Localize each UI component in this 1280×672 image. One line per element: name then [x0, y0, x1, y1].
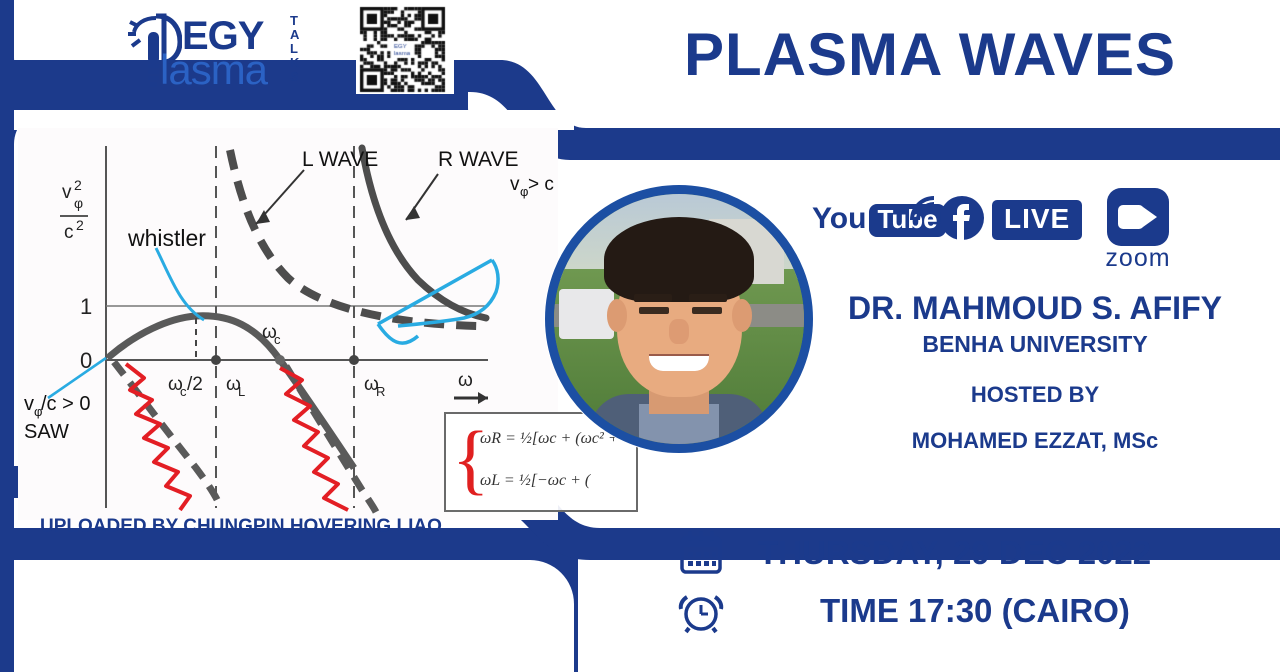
youtube-wifi-icon [908, 194, 942, 224]
photo-eye-left [639, 307, 669, 315]
speaker-university: BENHA UNIVERSITY [800, 331, 1270, 358]
photo-nose [669, 319, 689, 344]
zoom-camera-lens [1143, 207, 1157, 227]
photo-ear-right [732, 299, 752, 332]
axis-dot-omega-R [349, 355, 359, 365]
brand-logo[interactable]: EGY lasma TALKS [120, 6, 330, 92]
photo-brow-left [634, 294, 672, 302]
photo-car [559, 289, 614, 339]
hosted-by-label: HOSTED BY [800, 382, 1270, 408]
calendar-icon [678, 530, 724, 576]
label-vphi-c-gt-0: v [24, 393, 34, 415]
y-tick-0: 0 [80, 348, 92, 373]
axis-dot-omega-L [211, 355, 221, 365]
photo-eye-right [692, 307, 722, 315]
label-omega-axis: ω [458, 370, 473, 391]
label-omega-R-sub: R [376, 384, 385, 399]
speaker-name: DR. MAHMOUD S. AFIFY [800, 290, 1270, 327]
y-axis-label-sup: 2 [74, 177, 82, 193]
live-badge: LIVE [992, 200, 1082, 240]
broadcast-platforms: YouTube LIVE zoom [812, 186, 1172, 272]
photo-brow-right [689, 294, 727, 302]
label-saw: SAW [24, 421, 69, 443]
event-date-text: THURSDAY, 29 DEC 2022 [758, 534, 1151, 572]
alarm-clock-icon [678, 588, 724, 634]
host-name: MOHAMED EZZAT, MSc [800, 428, 1270, 454]
event-date-row: THURSDAY, 29 DEC 2022 [678, 530, 1270, 576]
event-schedule: THURSDAY, 29 DEC 2022 TIME 17:30 (CAIRO) [670, 530, 1270, 634]
zoom-camera-body [1118, 205, 1144, 229]
chart-caption: UPLOADED BY CHUNGPIN HOVERING LIAO [40, 516, 442, 538]
speaker-avatar [545, 185, 813, 453]
speaker-details: DR. MAHMOUD S. AFIFY BENHA UNIVERSITY HO… [800, 290, 1270, 454]
label-l-wave: L WAVE [302, 148, 378, 171]
label-omega-c-sub: c [274, 332, 281, 347]
formula-line-2: ωL = ½[−ωc + ( [480, 472, 590, 490]
qr-code[interactable] [356, 6, 454, 94]
page-title: PLASMA WAVES [600, 20, 1260, 89]
logo-plasma-text: lasma [160, 46, 267, 94]
zoom-icon[interactable]: zoom [1100, 188, 1176, 273]
axis-dot-omega-c [275, 355, 285, 365]
logo-talks-text: TALKS [290, 14, 300, 84]
facebook-icon[interactable] [938, 194, 986, 247]
qr-code-canvas [356, 6, 454, 94]
y-axis-label-num: v [62, 182, 72, 203]
photo-mouth [649, 354, 709, 371]
youtube-you-text: You [812, 202, 866, 235]
label-r-wave: R WAVE [438, 148, 519, 171]
photo-hair [604, 217, 754, 302]
label-gt-c: > c [528, 174, 554, 195]
y-axis-label-sub: φ [74, 195, 83, 211]
event-time-row: TIME 17:30 (CAIRO) [678, 588, 1270, 634]
zoom-label: zoom [1100, 244, 1176, 273]
bottom-left-panel [14, 560, 574, 672]
label-vphi-gt-c: v [510, 174, 520, 195]
y-tick-1: 1 [80, 294, 92, 319]
webinar-poster: EGY lasma TALKS PLASMA WAVES [0, 0, 1280, 672]
y-axis-label-den: c [64, 222, 74, 243]
facebook-glyph [938, 194, 986, 242]
label-whistler: whistler [127, 225, 206, 251]
photo-ear-left [607, 299, 627, 332]
label-omega-c-half-sub: c [180, 384, 187, 399]
y-axis-label-den-sup: 2 [76, 217, 84, 233]
label-omega-L-sub: L [238, 384, 245, 399]
label-omega-c-half-div: /2 [187, 374, 203, 395]
youtube-icon[interactable]: YouTube [812, 202, 946, 237]
label-c-gt-0: /c > 0 [41, 393, 90, 415]
zoom-camera-box [1107, 188, 1169, 246]
event-time-text: TIME 17:30 (CAIRO) [820, 592, 1130, 630]
